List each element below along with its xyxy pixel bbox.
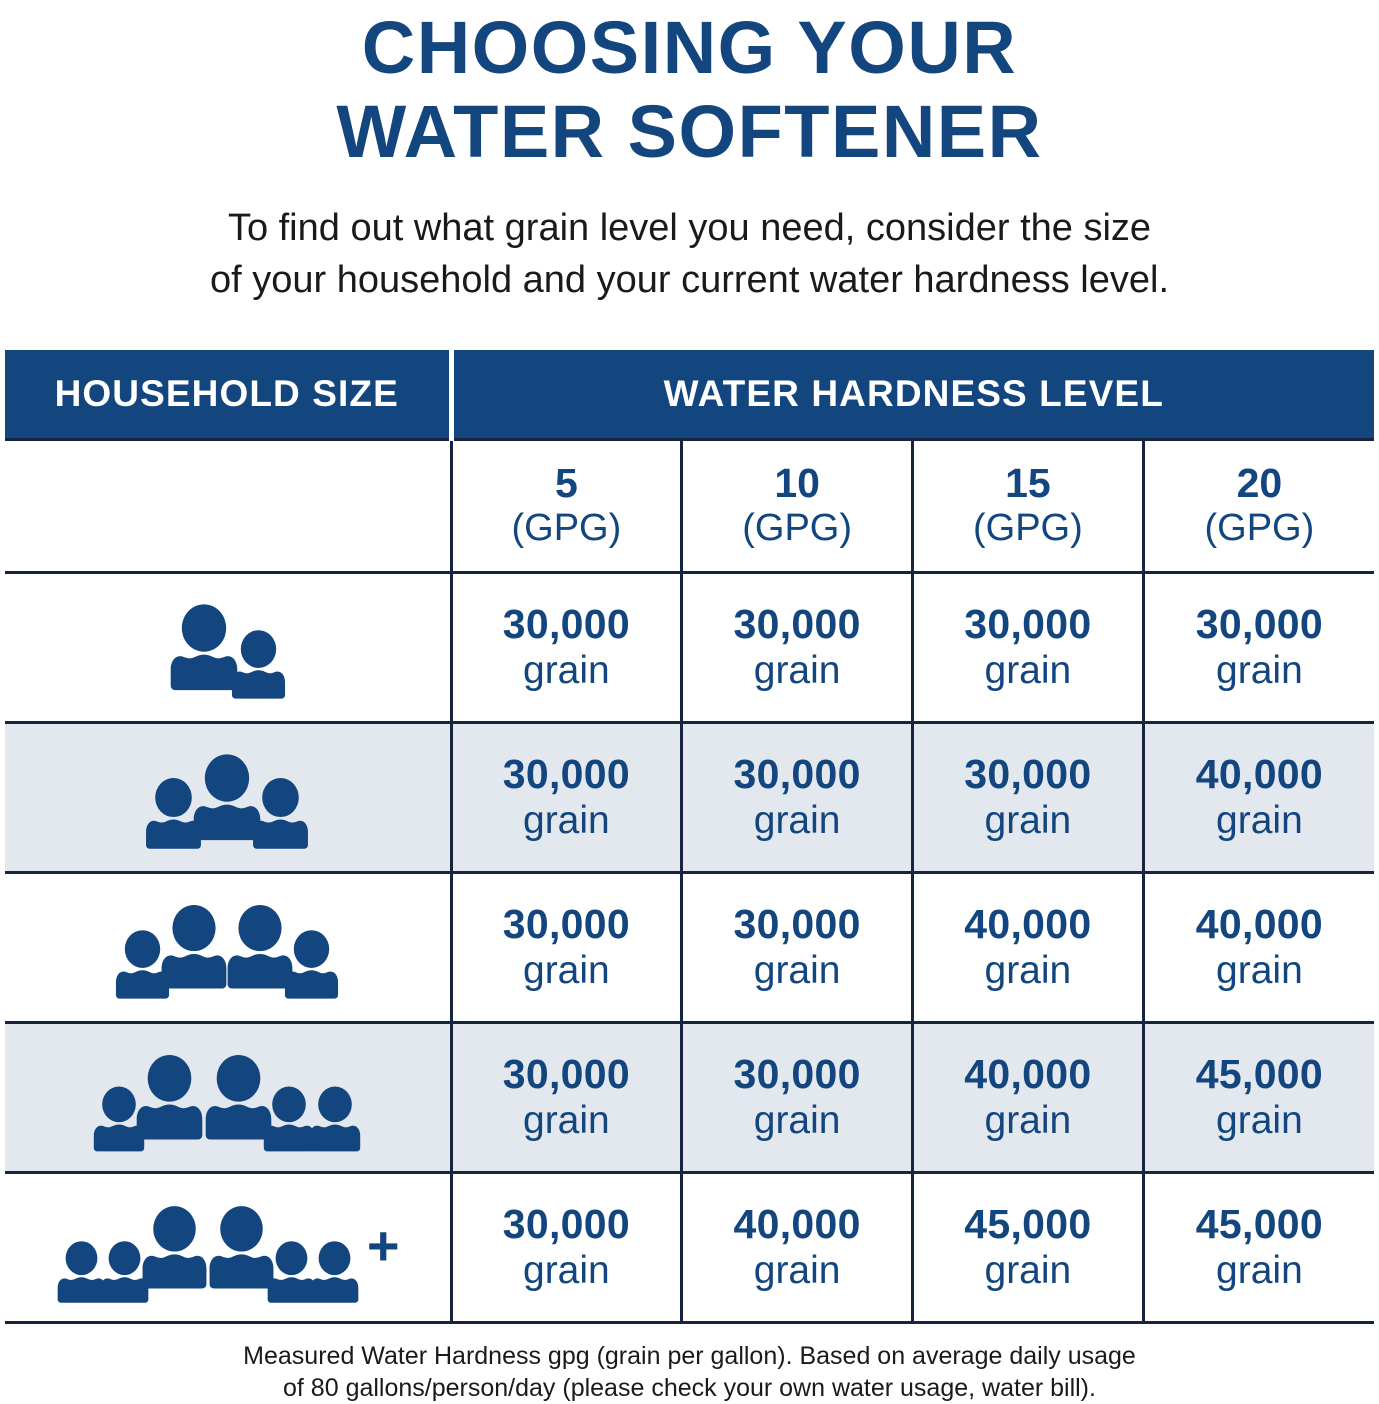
people-group	[5, 905, 450, 990]
grain-unit-label: grain	[1145, 947, 1374, 995]
infographic-page: CHOOSING YOUR WATER SOFTENER To find out…	[0, 0, 1379, 1404]
page-subtitle: To find out what grain level you need, c…	[0, 202, 1379, 306]
grain-unit-label: grain	[683, 1097, 911, 1145]
gpg-unit-10: (GPG)	[683, 505, 911, 551]
grain-value-cell: 30,000grain	[451, 873, 682, 1023]
household-size-cell	[5, 573, 451, 723]
household-size-cell	[5, 873, 451, 1023]
grain-unit-label: grain	[683, 647, 911, 695]
grain-value-cell: 30,000grain	[451, 1173, 682, 1323]
header-household-size: HOUSEHOLD SIZE	[5, 350, 451, 440]
grain-amount: 30,000	[683, 901, 911, 947]
grain-unit-label: grain	[683, 1247, 911, 1295]
grain-amount: 45,000	[1145, 1051, 1374, 1097]
grain-value-cell: 30,000grain	[913, 573, 1144, 723]
grain-unit-label: grain	[453, 1247, 681, 1295]
grain-value-cell: 30,000grain	[913, 723, 1144, 873]
table-header-row: HOUSEHOLD SIZE WATER HARDNESS LEVEL	[5, 350, 1374, 440]
grain-value-cell: 30,000grain	[682, 873, 913, 1023]
person-icon	[139, 1206, 210, 1290]
footnote-line-1: Measured Water Hardness gpg (grain per g…	[0, 1340, 1379, 1372]
footnote: Measured Water Hardness gpg (grain per g…	[0, 1340, 1379, 1404]
subtitle-line-2: of your household and your current water…	[0, 254, 1379, 306]
plus-icon: +	[367, 1218, 400, 1274]
gpg-value-15: 15	[914, 461, 1142, 505]
grain-amount: 30,000	[453, 601, 681, 647]
table-row: 30,000grain30,000grain40,000grain45,000g…	[5, 1023, 1374, 1173]
people-group	[5, 604, 450, 692]
grain-amount: 40,000	[683, 1201, 911, 1247]
people-group	[5, 1055, 450, 1141]
gpg-value-5: 5	[453, 461, 681, 505]
grain-value-cell: 30,000grain	[1143, 573, 1374, 723]
grain-amount: 30,000	[1145, 601, 1374, 647]
grain-table-wrapper: HOUSEHOLD SIZE WATER HARDNESS LEVEL 5 (G…	[0, 350, 1379, 1324]
grain-amount: 30,000	[453, 901, 681, 947]
title-line-1: CHOOSING YOUR	[0, 6, 1379, 90]
header-water-hardness-level: WATER HARDNESS LEVEL	[451, 350, 1374, 440]
grain-amount: 40,000	[914, 901, 1142, 947]
grain-value-cell: 30,000grain	[451, 1023, 682, 1173]
grain-value-cell: 40,000grain	[682, 1173, 913, 1323]
grain-amount: 40,000	[914, 1051, 1142, 1097]
gpg-unit-20: (GPG)	[1145, 505, 1374, 551]
subheader-gpg-15: 15 (GPG)	[913, 440, 1144, 573]
person-icon	[133, 1055, 206, 1141]
household-size-cell	[5, 723, 451, 873]
gpg-unit-5: (GPG)	[453, 505, 681, 551]
grain-recommendation-table: HOUSEHOLD SIZE WATER HARDNESS LEVEL 5 (G…	[5, 350, 1374, 1324]
household-size-cell	[5, 1023, 451, 1173]
grain-amount: 40,000	[1145, 751, 1374, 797]
subheader-gpg-5: 5 (GPG)	[451, 440, 682, 573]
title-line-2: WATER SOFTENER	[0, 90, 1379, 174]
grain-unit-label: grain	[683, 797, 911, 845]
person-icon	[206, 1206, 277, 1290]
table-subheader-row: 5 (GPG) 10 (GPG) 15 (GPG) 20 (GPG)	[5, 440, 1374, 573]
table-body: 30,000grain30,000grain30,000grain30,000g…	[5, 573, 1374, 1323]
grain-unit-label: grain	[453, 647, 681, 695]
grain-unit-label: grain	[914, 647, 1142, 695]
grain-unit-label: grain	[453, 797, 681, 845]
grain-unit-label: grain	[453, 947, 681, 995]
grain-unit-label: grain	[914, 947, 1142, 995]
grain-amount: 30,000	[683, 1051, 911, 1097]
grain-value-cell: 45,000grain	[1143, 1023, 1374, 1173]
people-group	[5, 754, 450, 842]
table-row: +30,000grain40,000grain45,000grain45,000…	[5, 1173, 1374, 1323]
subheader-gpg-20: 20 (GPG)	[1143, 440, 1374, 573]
person-icon	[190, 754, 264, 842]
grain-amount: 30,000	[453, 1201, 681, 1247]
grain-unit-label: grain	[914, 797, 1142, 845]
grain-unit-label: grain	[1145, 1247, 1374, 1295]
table-head: HOUSEHOLD SIZE WATER HARDNESS LEVEL 5 (G…	[5, 350, 1374, 573]
subheader-blank-cell	[5, 440, 451, 573]
grain-amount: 45,000	[1145, 1201, 1374, 1247]
gpg-value-20: 20	[1145, 461, 1374, 505]
grain-value-cell: 40,000grain	[913, 1023, 1144, 1173]
household-size-cell: +	[5, 1173, 451, 1323]
grain-amount: 45,000	[914, 1201, 1142, 1247]
table-row: 30,000grain30,000grain30,000grain30,000g…	[5, 573, 1374, 723]
person-icon	[224, 905, 296, 990]
grain-value-cell: 40,000grain	[913, 873, 1144, 1023]
grain-amount: 40,000	[1145, 901, 1374, 947]
grain-value-cell: 45,000grain	[913, 1173, 1144, 1323]
grain-amount: 30,000	[453, 1051, 681, 1097]
grain-value-cell: 30,000grain	[682, 573, 913, 723]
grain-amount: 30,000	[453, 751, 681, 797]
subheader-gpg-10: 10 (GPG)	[682, 440, 913, 573]
grain-value-cell: 30,000grain	[682, 723, 913, 873]
grain-unit-label: grain	[914, 1097, 1142, 1145]
grain-amount: 30,000	[914, 601, 1142, 647]
grain-value-cell: 40,000grain	[1143, 723, 1374, 873]
grain-unit-label: grain	[1145, 647, 1374, 695]
footnote-line-2: of 80 gallons/person/day (please check y…	[0, 1372, 1379, 1404]
grain-value-cell: 30,000grain	[451, 573, 682, 723]
person-icon	[158, 905, 230, 990]
grain-unit-label: grain	[453, 1097, 681, 1145]
grain-unit-label: grain	[1145, 1097, 1374, 1145]
person-icon	[229, 630, 288, 700]
gpg-unit-15: (GPG)	[914, 505, 1142, 551]
grain-value-cell: 30,000grain	[682, 1023, 913, 1173]
page-title: CHOOSING YOUR WATER SOFTENER	[0, 0, 1379, 174]
grain-value-cell: 30,000grain	[451, 723, 682, 873]
grain-amount: 30,000	[914, 751, 1142, 797]
grain-value-cell: 40,000grain	[1143, 873, 1374, 1023]
people-group: +	[5, 1206, 450, 1290]
gpg-value-10: 10	[683, 461, 911, 505]
grain-unit-label: grain	[1145, 797, 1374, 845]
table-row: 30,000grain30,000grain30,000grain40,000g…	[5, 723, 1374, 873]
grain-amount: 30,000	[683, 751, 911, 797]
grain-amount: 30,000	[683, 601, 911, 647]
grain-unit-label: grain	[914, 1247, 1142, 1295]
grain-value-cell: 45,000grain	[1143, 1173, 1374, 1323]
subtitle-line-1: To find out what grain level you need, c…	[0, 202, 1379, 254]
table-row: 30,000grain30,000grain40,000grain40,000g…	[5, 873, 1374, 1023]
person-icon	[202, 1055, 275, 1141]
grain-unit-label: grain	[683, 947, 911, 995]
